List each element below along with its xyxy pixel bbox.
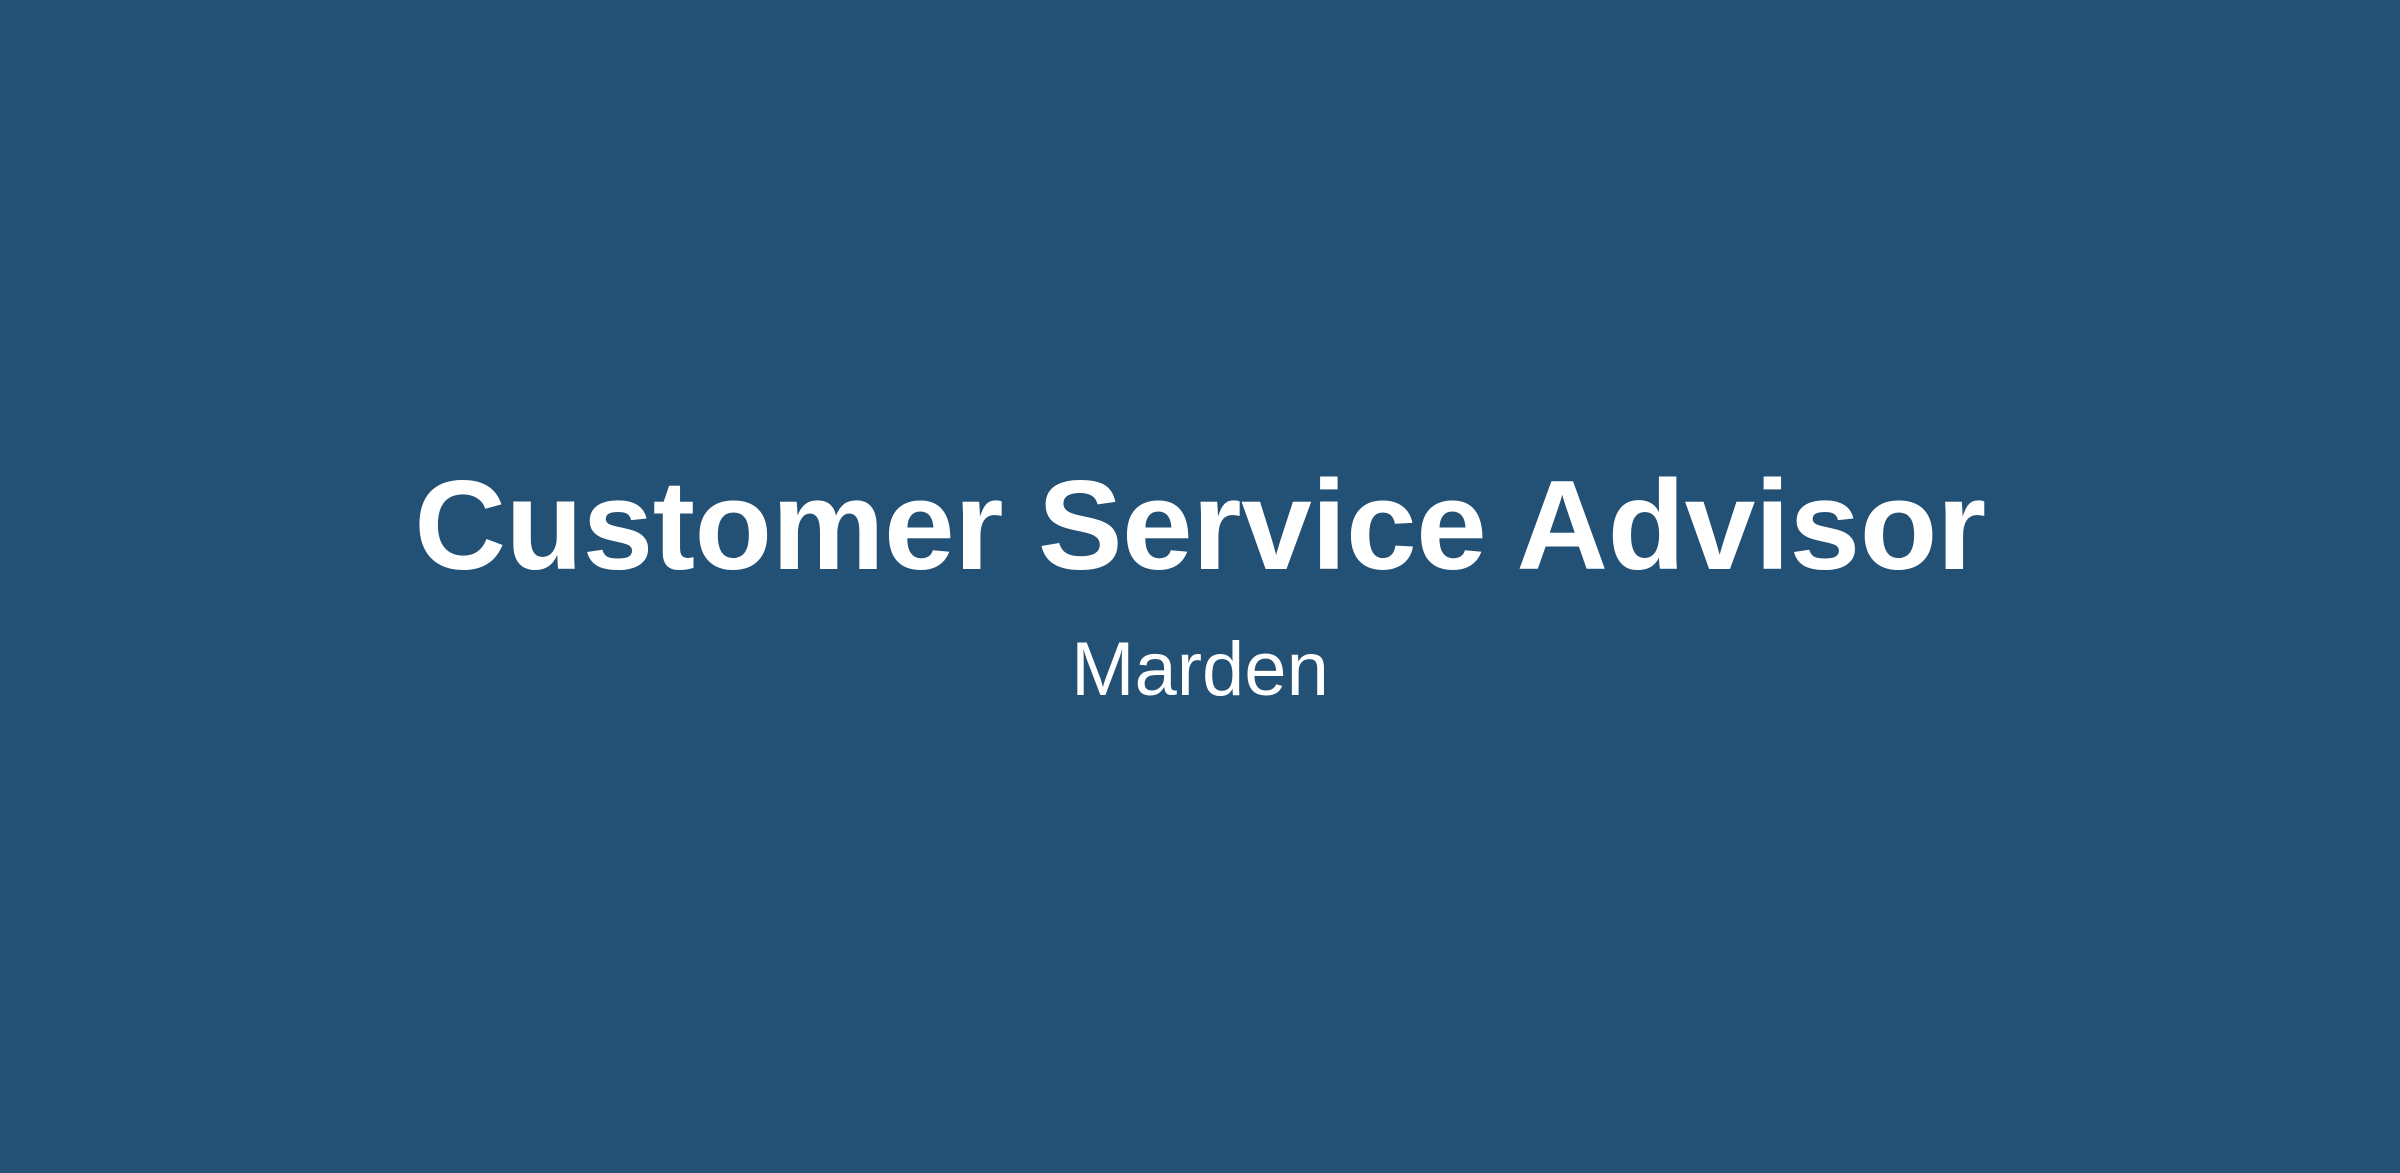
location-subtitle: Marden bbox=[1071, 632, 1329, 708]
title-block: Customer Service Advisor Marden bbox=[0, 462, 2400, 708]
page-title: Customer Service Advisor bbox=[414, 462, 1985, 589]
job-title-card: Customer Service Advisor Marden bbox=[0, 0, 2400, 1173]
